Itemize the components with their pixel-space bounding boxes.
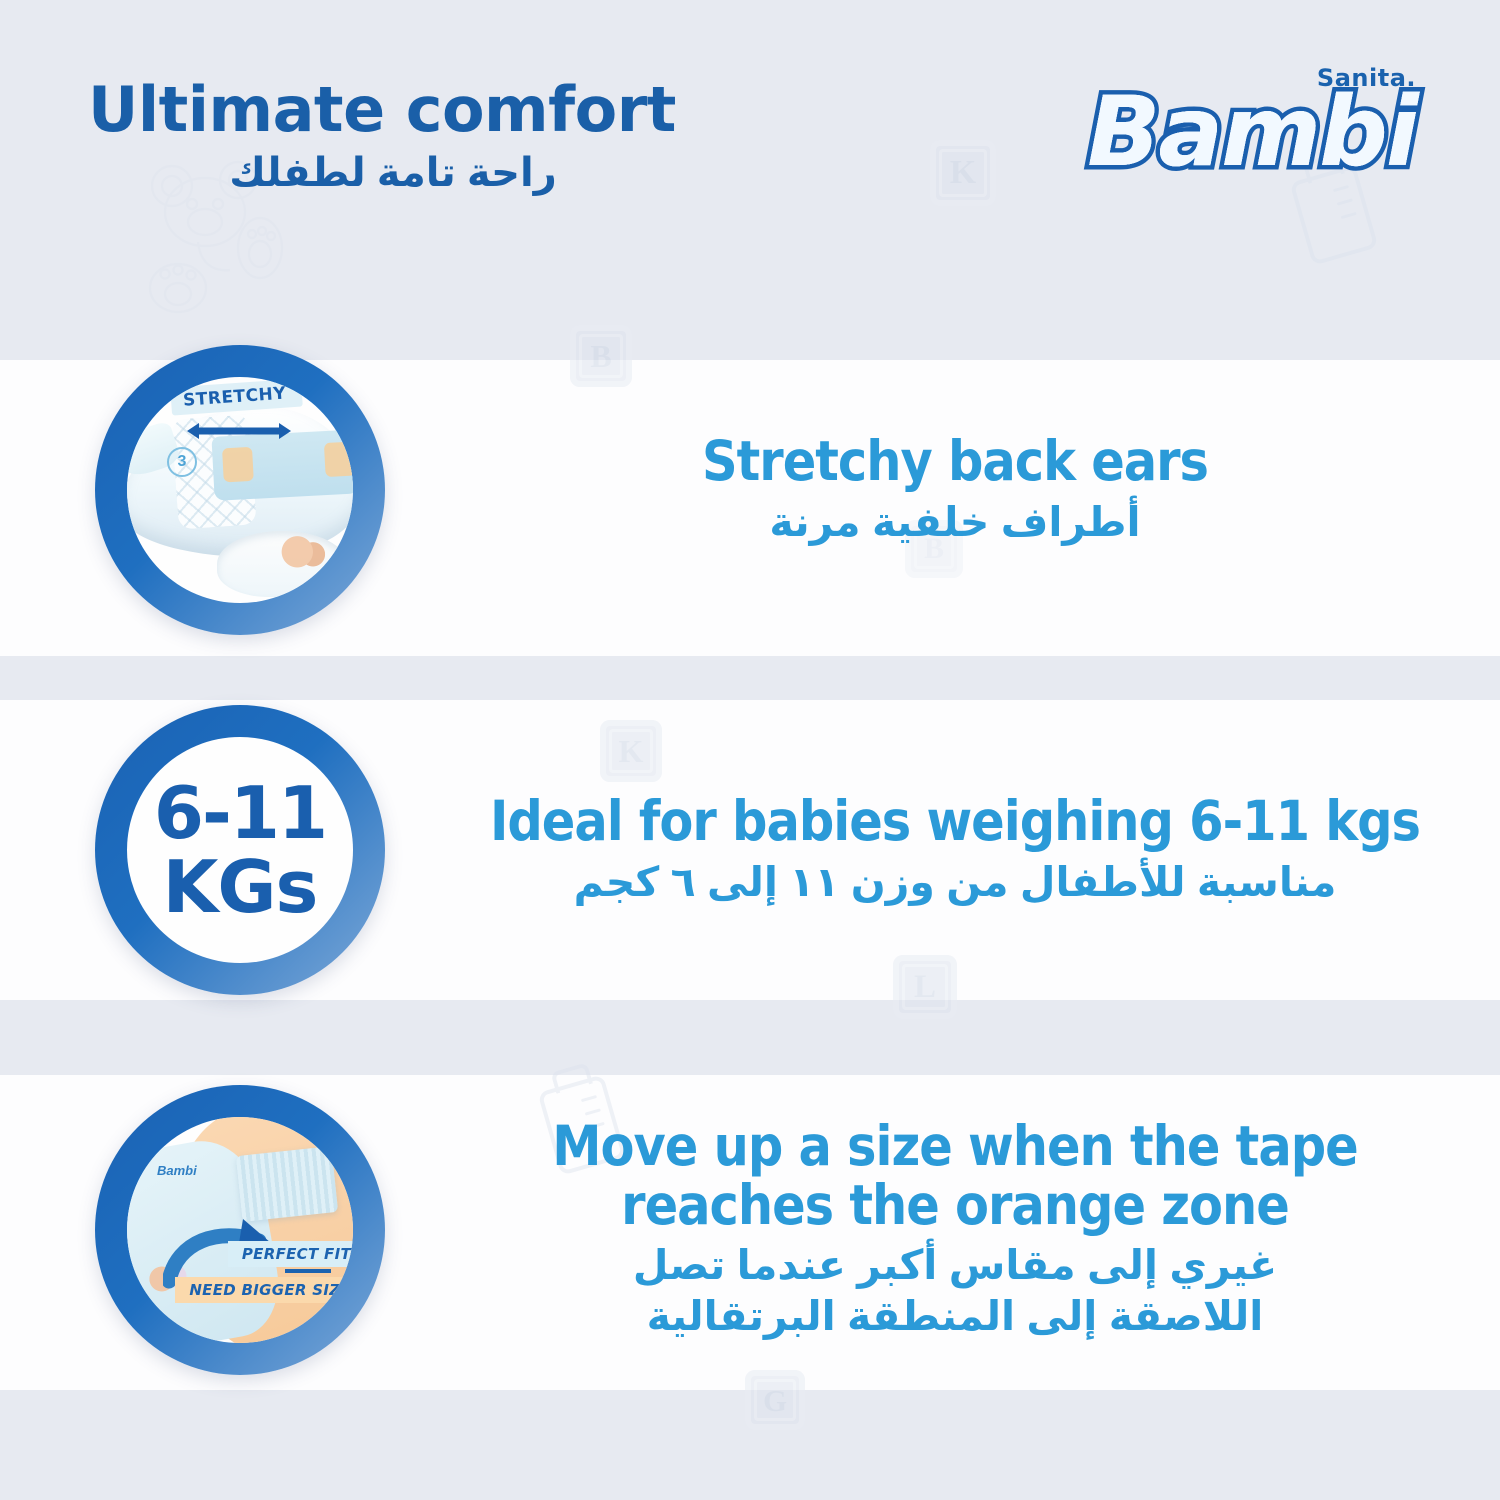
page-title: Ultimate comfort راحة تامة لطفلك: [88, 78, 808, 195]
block-watermark-k-top: K: [930, 140, 996, 206]
pack-logo-fit: Bambi: [157, 1163, 197, 1178]
weight-range: 6-11: [154, 779, 326, 847]
infographic-page: K B K L G B Ultimate comfort راحة تامة ل…: [0, 0, 1500, 1500]
circle-frame-stretchy: Bambi 3 STRETCHY: [95, 345, 385, 635]
feature-badge-2: 6-11 KGs: [0, 705, 480, 995]
feature-badge-3: Bambi PERFECT FIT NEED BIGGER SIZE: [0, 1085, 480, 1375]
diaper-size-number: 3: [167, 447, 197, 477]
title-arabic: راحة تامة لطفلك: [88, 151, 808, 195]
fit-artwork: Bambi PERFECT FIT NEED BIGGER SIZE: [127, 1117, 353, 1343]
bambi-logo: Sanita. Bambi Bambi: [1082, 62, 1422, 202]
stretch-arrow-icon: [185, 421, 293, 441]
diaper-photo-stretchy: Bambi 3 STRETCHY: [127, 377, 353, 603]
need-bigger-size-label: NEED BIGGER SIZE: [175, 1277, 353, 1303]
bambi-wordmark-fill: Bambi: [1082, 82, 1422, 183]
feature-heading-ar-3-line1: غيري إلى مقاس أكبر عندما تصل: [480, 1240, 1430, 1291]
feature-heading-ar-1: أطراف خلفية مرنة: [480, 497, 1430, 548]
feature-text-1: Stretchy back ears أطراف خلفية مرنة: [480, 432, 1500, 548]
circle-frame-fit: Bambi PERFECT FIT NEED BIGGER SIZE: [95, 1085, 385, 1375]
feature-heading-ar-3-line2: اللاصقة إلى المنطقة البرتقالية: [480, 1291, 1430, 1342]
fit-photo: Bambi PERFECT FIT NEED BIGGER SIZE: [127, 1117, 353, 1343]
weight-badge-inner: 6-11 KGs: [127, 737, 353, 963]
diaper-artwork: Bambi 3 STRETCHY: [127, 377, 353, 603]
feature-badge-1: Bambi 3 STRETCHY: [0, 345, 480, 635]
feature-heading-en-2: Ideal for babies weighing 6-11 kgs: [480, 792, 1430, 850]
feature-heading-en-1: Stretchy back ears: [480, 432, 1430, 490]
label-separator: [285, 1269, 331, 1273]
feature-heading-en-3-line1: Move up a size when the tape: [480, 1117, 1430, 1175]
feature-row-sizing: Bambi PERFECT FIT NEED BIGGER SIZE: [0, 1065, 1500, 1395]
feature-text-2: Ideal for babies weighing 6-11 kgs مناسب…: [480, 792, 1500, 908]
waistband-orange-zone-right: [324, 442, 353, 478]
feature-heading-ar-2: مناسبة للأطفال من وزن ١١ إلى ٦ كجم: [480, 857, 1430, 908]
weight-unit: KGs: [154, 853, 326, 921]
waistband-orange-zone-left: [222, 447, 254, 483]
feature-row-weight: 6-11 KGs Ideal for babies weighing 6-11 …: [0, 690, 1500, 1010]
title-english: Ultimate comfort: [88, 78, 808, 141]
feature-text-3: Move up a size when the tape reaches the…: [480, 1117, 1500, 1342]
feature-row-stretchy: Bambi 3 STRETCHY: [0, 330, 1500, 650]
diaper-bear-print: [277, 535, 335, 577]
feature-heading-en-3-line2: reaches the orange zone: [480, 1176, 1430, 1234]
weight-badge-text: 6-11 KGs: [154, 779, 326, 922]
circle-frame-weight: 6-11 KGs: [95, 705, 385, 995]
perfect-fit-label: PERFECT FIT: [228, 1241, 353, 1267]
